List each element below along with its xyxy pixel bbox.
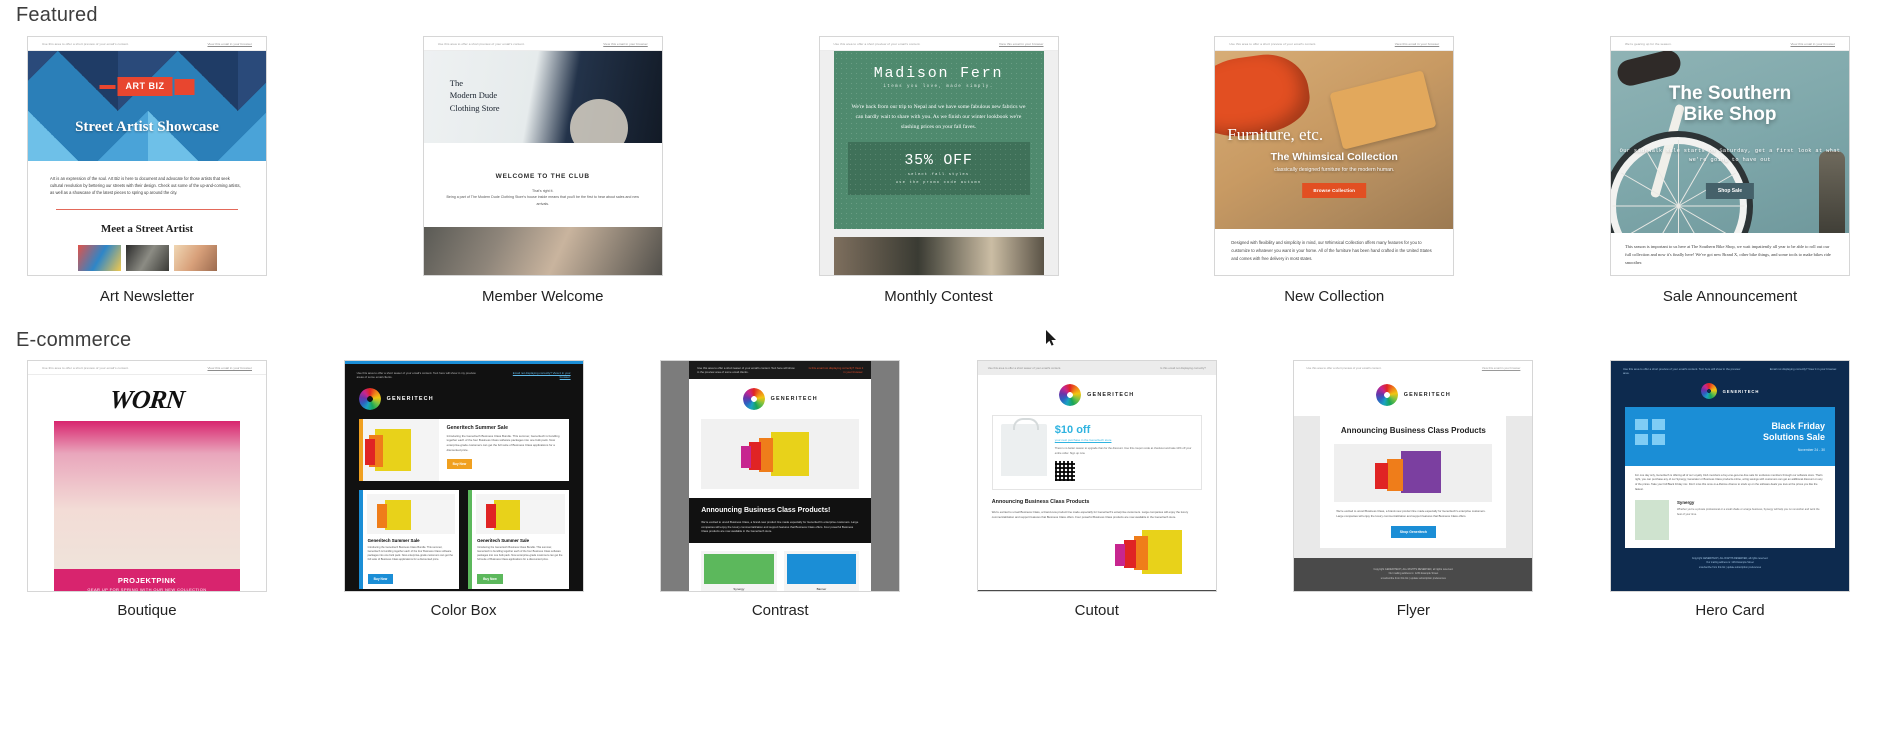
product-body: Whether you're a private professional or… <box>1677 508 1825 517</box>
product-card[interactable]: Generitech Summer Sale Introducing the G… <box>359 419 569 481</box>
template-name: Boutique <box>16 602 278 620</box>
product-card[interactable]: Generitech Summer Sale Introducing the G… <box>468 490 569 590</box>
feature-tile[interactable]: Banner <box>784 551 860 592</box>
product-image <box>992 526 1202 582</box>
template-card-sale-announcement[interactable]: We're gearing up for the season. View th… <box>1599 36 1861 306</box>
hero-subtitle: Our sidewalk sale starts on Saturday, ge… <box>1611 147 1849 165</box>
starburst-icon <box>359 388 381 410</box>
template-card-flyer[interactable]: Use this area to offer a short preview o… <box>1282 360 1544 620</box>
announcement-title: Announcing Business Class Products! <box>701 507 859 516</box>
product-title: Generitech Summer Sale <box>363 538 460 543</box>
generitech-logo: GENERITECH <box>1376 384 1451 406</box>
email-preheader: Use this area to offer a short preview o… <box>820 37 1058 51</box>
secondary-photo <box>424 227 662 276</box>
mouse-pointer-icon <box>1046 330 1058 348</box>
brand-header: GENERITECH <box>1611 381 1849 399</box>
product-title: Synergy <box>1677 500 1825 505</box>
template-thumbnail[interactable]: Use this area to offer a short teaser of… <box>344 360 584 592</box>
product-card-pair: Generitech Summer Sale Introducing the G… <box>359 490 569 590</box>
divider <box>56 209 238 210</box>
brand-header: GENERITECH <box>345 380 583 410</box>
template-card-color-box[interactable]: Use this area to offer a short teaser of… <box>333 360 595 620</box>
brand-name: GENERITECH <box>771 396 818 402</box>
announcement-block: Announcing Business Class Products! We'r… <box>689 498 871 543</box>
promo-subtitle: GEAR UP FOR SPRING WITH OUR NEW COLLECTI… <box>54 587 240 592</box>
template-name: New Collection <box>1203 288 1465 306</box>
hero-photo <box>54 421 240 569</box>
product-body: Introducing the Generitech Business Clas… <box>447 434 561 453</box>
welcome-heading: WELCOME TO THE CLUB <box>424 173 662 180</box>
template-name: Color Box <box>333 602 595 620</box>
section-title-featured: Featured <box>16 4 98 27</box>
email-frame: Use this area to offer a short preview o… <box>1294 361 1532 591</box>
browse-collection-button[interactable]: Browse Collection <box>1302 183 1366 198</box>
hero-title: The Modern Dude Clothing Store <box>450 77 500 114</box>
hero-subtitle: The Whimsical Collection <box>1215 151 1453 163</box>
body-paragraph: We're back from our trip to Nepal and we… <box>834 89 1044 132</box>
spoke <box>1613 206 1679 207</box>
promo-block: $10 off your next purchase in the Generi… <box>992 415 1202 490</box>
generitech-logo: GENERITECH <box>743 388 818 410</box>
promo-band: PROJEKTPINK GEAR UP FOR SPRING WITH OUR … <box>54 569 240 592</box>
template-thumbnail[interactable]: Use this area to offer a short preview o… <box>1293 360 1533 592</box>
brand-name: GENERITECH <box>1723 389 1760 394</box>
body-subheading: Meet a Street Artist <box>50 223 244 235</box>
template-thumbnail[interactable]: Use this area to offer a short preview o… <box>27 36 267 276</box>
tile-label: Synergy <box>701 587 777 591</box>
promo-title: PROJEKTPINK <box>54 576 240 585</box>
ecommerce-template-row: Use this area to offer a short preview o… <box>16 360 1861 620</box>
shop-button[interactable]: Shop Generitech <box>1391 526 1436 538</box>
email-frame: Madison Fern items you love, made simply… <box>820 51 1058 276</box>
hero-image: The Southern Bike Shop Our sidewalk sale… <box>1611 51 1849 233</box>
preheader-text: Use this area to offer a short preview o… <box>42 42 129 46</box>
view-in-browser-link[interactable]: View this email in your browser <box>999 42 1044 46</box>
brand-name: GENERITECH <box>1087 392 1134 398</box>
preheader-text: Use this area to offer a short preview o… <box>438 42 525 46</box>
template-card-member-welcome[interactable]: Use this area to offer a short preview o… <box>412 36 674 306</box>
product-image <box>701 419 859 489</box>
hero-title: The Southern Bike Shop <box>1611 83 1849 126</box>
logo-text: ART BIZ <box>118 77 173 96</box>
brand-name: GENERITECH <box>1404 392 1451 398</box>
body-paragraph: Art is an expression of the soul. Art Bi… <box>50 175 244 196</box>
email-frame: Use this area to offer a short teaser of… <box>345 361 583 591</box>
footer-copy: Copyright GENERITECH, ALL RIGHTS RESERVE… <box>1611 548 1849 578</box>
product-image <box>1635 500 1669 540</box>
hero-title: Madison Fern <box>834 51 1044 82</box>
shop-sale-button[interactable]: Shop Sale <box>1706 183 1754 199</box>
template-thumbnail[interactable]: We're gearing up for the season. View th… <box>1610 36 1850 276</box>
template-thumbnail[interactable]: Use this area to offer a short preview o… <box>1610 360 1850 592</box>
starburst-icon <box>1059 384 1081 406</box>
offer-line-1: select fall styles <box>848 173 1030 177</box>
generitech-logo: GENERITECH <box>1701 383 1760 399</box>
brand-name: GENERITECH <box>387 396 434 402</box>
promo-subtitle: your next purchase in the Generitech sto… <box>1055 438 1193 442</box>
preheader-text: Use this area to offer a short preview o… <box>42 366 129 370</box>
announcement-body: We're excited to unveil Business Class, … <box>992 510 1202 520</box>
email-body: Art is an expression of the soul. Art Bi… <box>28 161 266 271</box>
generitech-logo: GENERITECH <box>1059 384 1134 406</box>
spoke <box>1679 206 1745 207</box>
announcement-block: Announcing Business Class Products We're… <box>978 490 1216 520</box>
template-name: Hero Card <box>1599 602 1861 620</box>
template-thumbnail[interactable]: Use this area to offer a short preview o… <box>819 36 1059 276</box>
product-image <box>363 419 439 481</box>
view-in-browser-link[interactable]: View this email in your browser <box>1482 366 1521 370</box>
body-paragraph: This season is important to us here at T… <box>1611 233 1849 267</box>
logo-brush <box>175 79 195 95</box>
hero-image: Furniture, etc. The Whimsical Collection… <box>1215 51 1453 229</box>
template-name: Art Newsletter <box>16 288 278 306</box>
artist-thumb <box>174 245 217 271</box>
offer-amount: 35% OFF <box>848 152 1030 169</box>
offer-band: 35% OFF select fall styles use the promo… <box>848 142 1030 195</box>
artist-thumb <box>78 245 121 271</box>
body-paragraph: Designed with flexibility and simplicity… <box>1215 229 1453 262</box>
art-hero-image: ART BIZ Street Artist Showcase <box>28 51 266 161</box>
email-preheader: Use this area to offer a short preview o… <box>1215 37 1453 51</box>
announcement-card: Announcing Business Class Products We're… <box>1320 416 1506 548</box>
product-title: Generitech Summer Sale <box>447 425 561 431</box>
qr-code-icon <box>1055 461 1075 481</box>
announcement-body: We're excited to unveil Business Class, … <box>1320 502 1506 519</box>
email-frame: Use this area to offer a short preview o… <box>1611 361 1849 591</box>
hero-dates: November 24 - 30 <box>1635 448 1825 452</box>
product-body: Introducing the Generitech Business Clas… <box>472 546 569 568</box>
brand-header: GENERITECH <box>689 379 871 410</box>
template-card-contrast[interactable]: Use this area to offer a short teaser of… <box>649 360 911 620</box>
footer-copy: Copyright GENERITECH, ALL RIGHTS RESERVE… <box>978 590 1216 592</box>
preheader-text: Use this area to offer a short teaser of… <box>357 371 477 380</box>
template-card-monthly-contest[interactable]: Use this area to offer a short preview o… <box>808 36 1070 306</box>
offer-line-2: use the promo code autumn <box>848 181 1030 185</box>
view-in-browser-link[interactable]: Email not displaying correctly? View it … <box>506 371 570 380</box>
template-card-hero-card[interactable]: Use this area to offer a short preview o… <box>1599 360 1861 620</box>
preheader-text: We're gearing up for the season. <box>1625 42 1672 46</box>
template-card-art-newsletter[interactable]: Use this area to offer a short preview o… <box>16 36 278 306</box>
template-card-cutout[interactable]: Use this area to offer a short teaser of… <box>966 360 1228 620</box>
starburst-icon <box>743 388 765 410</box>
template-card-new-collection[interactable]: Use this area to offer a short preview o… <box>1203 36 1465 306</box>
preheader-text: Use this area to offer a short teaser of… <box>697 366 797 374</box>
template-thumbnail[interactable]: Use this area to offer a short preview o… <box>27 360 267 592</box>
view-in-browser-link[interactable]: Email not displaying correctly? View it … <box>1760 367 1837 375</box>
featured-template-row: Use this area to offer a short preview o… <box>16 36 1861 306</box>
email-preheader: Use this area to offer a short preview o… <box>28 37 266 51</box>
template-card-boutique[interactable]: Use this area to offer a short preview o… <box>16 360 278 620</box>
view-in-browser-link[interactable]: View this email in your browser <box>207 366 252 370</box>
email-preheader: Use this area to offer a short preview o… <box>1611 361 1849 381</box>
spoke <box>1678 206 1679 233</box>
template-thumbnail[interactable]: Use this area to offer a short teaser of… <box>660 360 900 592</box>
template-name: Contrast <box>649 602 911 620</box>
generitech-logo: GENERITECH <box>359 388 569 410</box>
product-card[interactable]: Generitech Summer Sale Introducing the G… <box>359 490 460 590</box>
buy-now-button[interactable]: Buy Now <box>477 574 503 584</box>
artist-thumbnails <box>50 245 244 271</box>
hero-title: Furniture, etc. <box>1227 125 1323 145</box>
board-shape <box>1330 70 1437 150</box>
preheader-text: Use this area to offer a short preview o… <box>834 42 921 46</box>
template-name: Flyer <box>1282 602 1544 620</box>
view-in-browser-link[interactable]: View this email in your browser <box>1395 42 1440 46</box>
template-name: Monthly Contest <box>808 288 1070 306</box>
hero-panel: Madison Fern items you love, made simply… <box>834 51 1044 229</box>
template-thumbnail[interactable]: Use this area to offer a short preview o… <box>1214 36 1454 276</box>
product-title: Generitech Summer Sale <box>472 538 569 543</box>
email-preheader: We're gearing up for the season. View th… <box>1611 37 1849 51</box>
hero-banner: Black Friday Solutions Sale November 24 … <box>1625 407 1835 466</box>
hero-photo <box>834 237 1044 276</box>
template-name: Sale Announcement <box>1599 288 1861 306</box>
buy-now-button[interactable]: Buy Now <box>447 459 473 469</box>
view-in-browser-link[interactable]: View this email in your browser <box>603 42 648 46</box>
hero-image: The Modern Dude Clothing Store <box>424 51 662 143</box>
email-frame: Use this area to offer a short teaser of… <box>661 361 899 591</box>
announcement-body: We're excited to unveil Business Class, … <box>701 520 859 534</box>
promo-amount: $10 off <box>1055 424 1193 436</box>
buy-now-button[interactable]: Buy Now <box>368 574 394 584</box>
brand-logo: WORN <box>27 375 267 421</box>
email-preheader: Use this area to offer a short preview o… <box>424 37 662 51</box>
artist-thumb <box>126 245 169 271</box>
gift-icon <box>1635 419 1665 445</box>
footer-copy: Copyright GENERITECH, ALL RIGHTS RESERVE… <box>1294 558 1532 591</box>
product-block: Synergy Whether you're a private profess… <box>1625 492 1835 540</box>
template-name: Cutout <box>966 602 1228 620</box>
feature-tiles: Synergy Banner <box>689 543 871 592</box>
announcement-title: Announcing Business Class Products <box>992 499 1202 506</box>
spoke <box>1645 206 1679 233</box>
view-in-browser-link[interactable]: View this email in your browser <box>1790 42 1835 46</box>
email-preheader: Use this area to offer a short preview o… <box>1294 361 1532 375</box>
email-preheader: Use this area to offer a short teaser of… <box>345 364 583 380</box>
art-biz-logo: ART BIZ <box>100 77 195 96</box>
body-paragraph: For one day only, Generitech is offering… <box>1625 466 1835 493</box>
preheader-text: Use this area to offer a short preview o… <box>1623 367 1747 375</box>
starburst-icon <box>1376 384 1398 406</box>
product-image <box>1334 444 1492 502</box>
announcement-block: Announcing Business Class Products! We'r… <box>345 589 583 592</box>
tile-label: Banner <box>784 587 860 591</box>
email-preheader: Use this area to offer a short teaser of… <box>978 361 1216 375</box>
template-name: Member Welcome <box>412 288 674 306</box>
hero-tagline: classically designed furniture for the m… <box>1215 167 1453 173</box>
welcome-copy: That's right it. Being a part of The Mod… <box>424 188 662 207</box>
logo-handle <box>100 85 116 89</box>
email-frame: Use this area to offer a short teaser of… <box>978 361 1216 591</box>
preheader-text: Use this area to offer a short teaser of… <box>988 366 1114 370</box>
hero-title: Street Artist Showcase <box>28 119 266 136</box>
announcement-title: Announcing Business Class Products <box>1320 416 1506 436</box>
template-thumbnail[interactable]: Use this area to offer a short preview o… <box>423 36 663 276</box>
preheader-text: Use this area to offer a short preview o… <box>1306 366 1381 370</box>
email-preheader: Use this area to offer a short teaser of… <box>689 361 871 379</box>
brand-header: GENERITECH <box>978 375 1216 406</box>
section-title-ecommerce: E-commerce <box>16 329 131 352</box>
starburst-icon <box>1701 383 1717 399</box>
preheader-text: Use this area to offer a short preview o… <box>1229 42 1316 46</box>
promo-body: There's no better reason to upgrade than… <box>1055 447 1193 456</box>
email-preheader: Use this area to offer a short preview o… <box>28 361 266 375</box>
shopping-bag-icon <box>1001 424 1047 476</box>
template-gallery: Featured Use this area to offer a short … <box>0 0 1877 749</box>
view-in-browser-link[interactable]: View this email in your browser <box>207 42 252 46</box>
hero-card: Black Friday Solutions Sale November 24 … <box>1625 407 1835 548</box>
view-in-browser-link[interactable]: Is this email not displaying correctly? … <box>807 366 863 374</box>
template-thumbnail[interactable]: Use this area to offer a short teaser of… <box>977 360 1217 592</box>
feature-tile[interactable]: Synergy <box>701 551 777 592</box>
product-body: Introducing the Generitech Business Clas… <box>363 546 460 568</box>
view-in-browser-link[interactable]: Is this email not displaying correctly? <box>1127 366 1205 370</box>
brand-header: GENERITECH <box>1294 375 1532 406</box>
